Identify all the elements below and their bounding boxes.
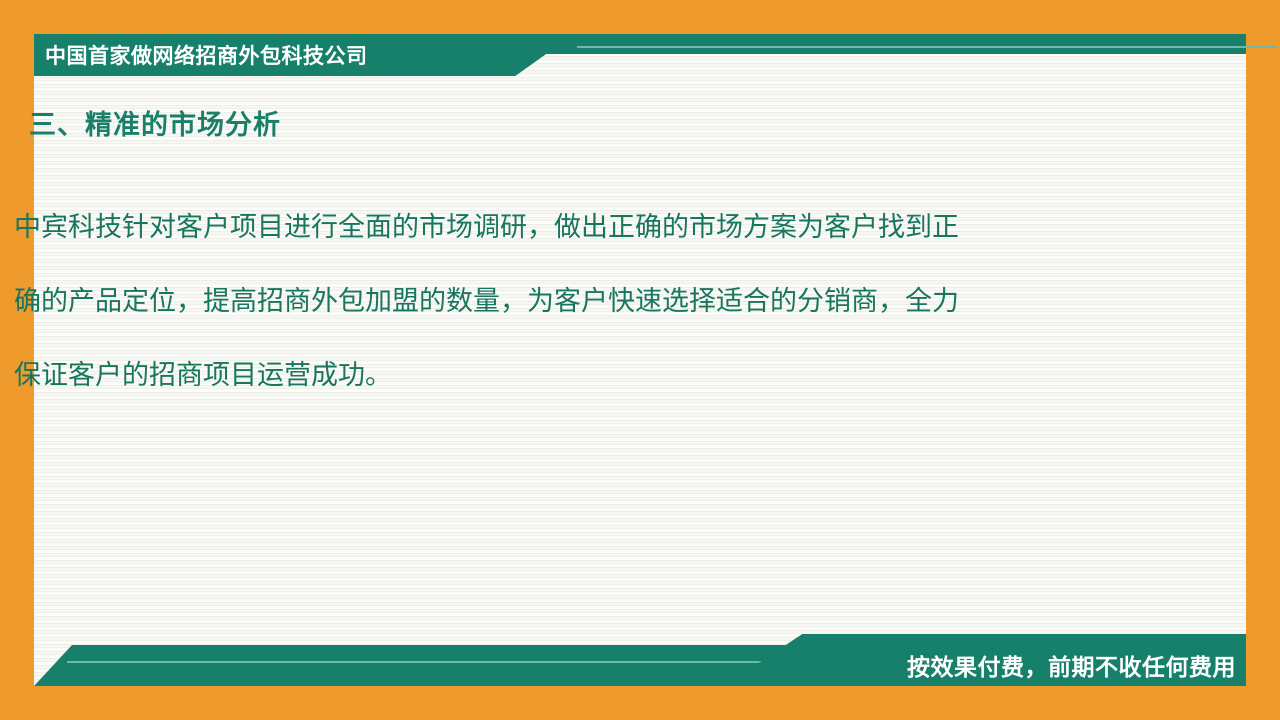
header-hairline-divider [577, 46, 1277, 48]
header-accent-bar [514, 34, 1246, 54]
paragraph-line: 确的产品定位，提高招商外包加盟的数量，为客户快速选择适合的分销商，全力 [14, 264, 1160, 338]
body-paragraph: 中宾科技针对客户项目进行全面的市场调研，做出正确的市场方案为客户找到正 确的产品… [14, 190, 1160, 412]
paragraph-line: 保证客户的招商项目运营成功。 [14, 338, 1160, 412]
slide-root: { "slide": { "header": { "company_line":… [0, 0, 1280, 720]
footer-slogan-block: 按效果付费，前期不收任何费用 [724, 634, 1246, 686]
section-heading: 三、精准的市场分析 [29, 103, 281, 142]
header-company-tagline: 中国首家做网络招商外包科技公司 [45, 40, 368, 70]
paragraph-line: 中宾科技针对客户项目进行全面的市场调研，做出正确的市场方案为客户找到正 [14, 190, 1160, 264]
footer-band: 按效果付费，前期不收任何费用 [34, 611, 1246, 686]
header-band: 中国首家做网络招商外包科技公司 [34, 34, 1246, 76]
footer-hairline-divider [67, 661, 767, 663]
footer-slogan-text: 按效果付费，前期不收任何费用 [907, 648, 1236, 682]
footer-accent-bar [34, 645, 794, 686]
